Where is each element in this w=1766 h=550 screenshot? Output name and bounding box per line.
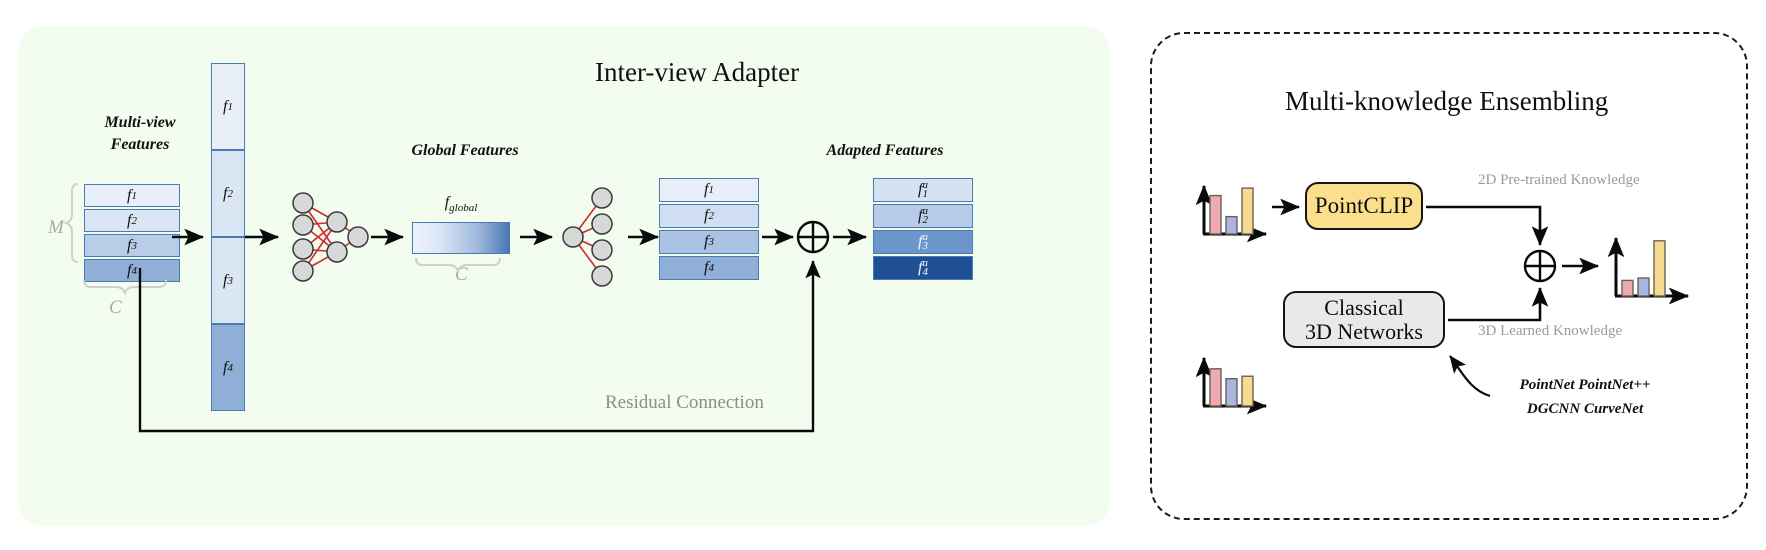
- 2d-pretrained-knowledge-label: 2D Pre-trained Knowledge: [1478, 172, 1640, 189]
- chart-bar: [1638, 278, 1649, 296]
- classical-network-names: PointNet PointNet++DGCNN CurveNet: [1460, 373, 1710, 421]
- bar-chart-icon-ensembled-output: [1608, 232, 1694, 304]
- chart-bar: [1654, 241, 1665, 296]
- chart-bar: [1242, 188, 1253, 234]
- adapted-feature-box: fa4: [873, 256, 973, 280]
- expanded-feature-box: f2: [659, 204, 759, 228]
- expanded-feature-box: f3: [659, 230, 759, 254]
- expanded-feature-box: f4: [659, 256, 759, 280]
- concat-feature-segment: f2: [211, 150, 245, 237]
- global-feature-symbol: fglobal: [412, 192, 510, 216]
- global-feature-bar: [412, 222, 510, 254]
- chart-bar: [1622, 280, 1633, 296]
- pointclip-box[interactable]: PointCLIP: [1305, 182, 1423, 230]
- brace-label-m: M: [48, 217, 64, 239]
- global-features-label: Global Features: [380, 140, 550, 162]
- 3d-learned-knowledge-label: 3D Learned Knowledge: [1478, 323, 1622, 340]
- figure-root: Inter-view Adapter Multi-viewFeatures Gl…: [0, 0, 1766, 550]
- residual-connection-label: Residual Connection: [605, 392, 764, 414]
- chart-bar: [1242, 376, 1253, 406]
- chart-axes: [1196, 352, 1272, 414]
- chart-axes: [1608, 232, 1694, 304]
- expanded-feature-box: f1: [659, 178, 759, 202]
- bar-chart-icon-pointclip-input: [1196, 180, 1272, 242]
- bar-chart-icon-classical-input: [1196, 352, 1272, 414]
- adapted-feature-box: fa3: [873, 230, 973, 254]
- chart-bar: [1226, 379, 1237, 406]
- chart-bar: [1226, 217, 1237, 234]
- classical-3d-networks-box[interactable]: Classical3D Networks: [1283, 291, 1445, 348]
- adapter-panel-title: Inter-view Adapter: [595, 57, 799, 88]
- adapted-features-label: Adapted Features: [795, 140, 975, 162]
- chart-axes: [1196, 180, 1272, 242]
- chart-bar: [1210, 369, 1221, 406]
- adapted-feature-box: fa1: [873, 178, 973, 202]
- concat-feature-segment: f1: [211, 63, 245, 150]
- chart-bar: [1210, 196, 1221, 234]
- concat-feature-segment: f4: [211, 324, 245, 411]
- ensemble-panel-title: Multi-knowledge Ensembling: [1285, 86, 1608, 117]
- multi-view-feature-box: f3: [84, 234, 180, 257]
- concat-feature-segment: f3: [211, 237, 245, 324]
- multi-view-features-label: Multi-viewFeatures: [60, 112, 220, 155]
- multi-view-feature-box: f4: [84, 259, 180, 282]
- adapted-feature-box: fa2: [873, 204, 973, 228]
- multi-view-feature-box: f1: [84, 184, 180, 207]
- brace-label-c-left: C: [109, 297, 122, 319]
- brace-label-c-global: C: [455, 264, 468, 286]
- multi-view-feature-box: f2: [84, 209, 180, 232]
